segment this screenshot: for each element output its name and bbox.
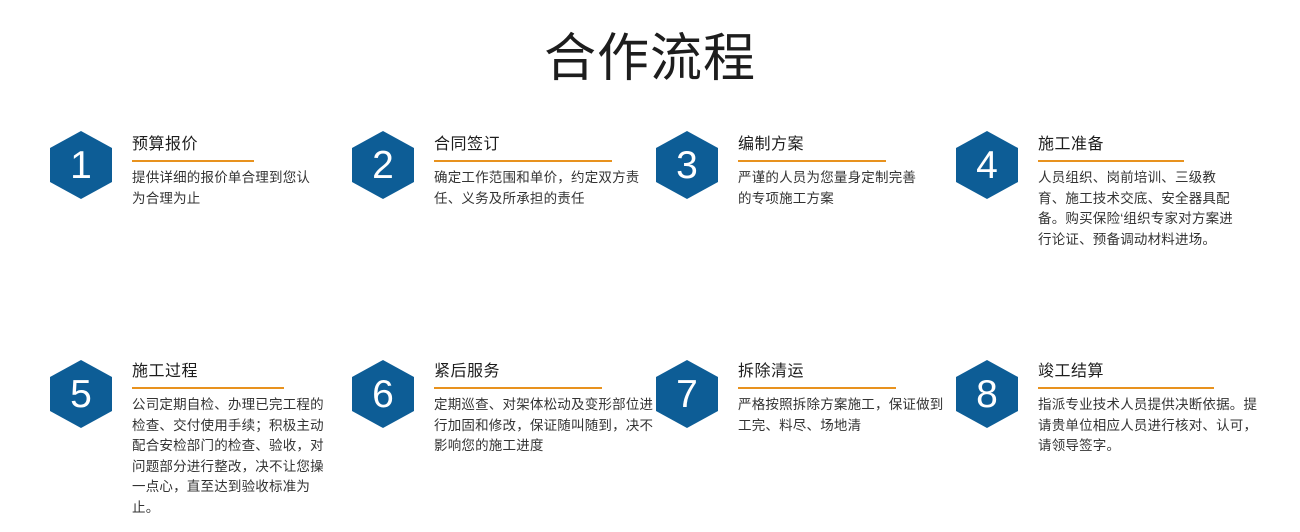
step-number: 4: [976, 146, 998, 185]
process-steps-grid: 1 预算报价 提供详细的报价单合理到您认为合理为止 2 合同签订 确定工作范围和…: [0, 131, 1300, 518]
step-number: 8: [976, 375, 998, 414]
process-step-6: 6 紧后服务 定期巡查、对架体松动及变形部位进行加固和修改，保证随叫随到，决不影…: [352, 309, 656, 518]
hexagon-icon: 6: [352, 360, 414, 428]
step-number: 2: [372, 146, 394, 185]
step-content: 编制方案 严谨的人员为您量身定制完善的专项施工方案: [738, 131, 956, 209]
step-badge-8: 8: [956, 358, 1020, 428]
step-content: 施工过程 公司定期自检、办理已完工程的检查、交付使用手续；积极主动配合安检部门的…: [132, 358, 352, 518]
hexagon-icon: 8: [956, 360, 1018, 428]
hexagon-icon: 1: [50, 131, 112, 199]
step-title: 拆除清运: [738, 362, 956, 382]
step-title: 编制方案: [738, 135, 956, 155]
title-underline-rule: [1038, 160, 1184, 162]
process-step-1: 1 预算报价 提供详细的报价单合理到您认为合理为止: [50, 131, 352, 309]
step-description: 提供详细的报价单合理到您认为合理为止: [132, 168, 318, 209]
process-step-5: 5 施工过程 公司定期自检、办理已完工程的检查、交付使用手续；积极主动配合安检部…: [50, 309, 352, 518]
step-number: 6: [372, 375, 394, 414]
hexagon-icon: 4: [956, 131, 1018, 199]
step-description: 公司定期自检、办理已完工程的检查、交付使用手续；积极主动配合安检部门的检查、验收…: [132, 395, 328, 518]
step-title: 施工过程: [132, 362, 352, 382]
title-underline-rule: [738, 160, 886, 162]
step-badge-7: 7: [656, 358, 720, 428]
step-badge-2: 2: [352, 131, 416, 199]
title-underline-rule: [132, 387, 284, 389]
hexagon-icon: 2: [352, 131, 414, 199]
title-underline-rule: [434, 160, 612, 162]
step-number: 7: [676, 375, 698, 414]
step-title: 合同签订: [434, 135, 656, 155]
step-badge-1: 1: [50, 131, 114, 199]
step-description: 定期巡查、对架体松动及变形部位进行加固和修改，保证随叫随到，决不影响您的施工进度: [434, 395, 656, 457]
step-number: 3: [676, 146, 698, 185]
title-underline-rule: [1038, 387, 1214, 389]
step-number: 5: [70, 375, 92, 414]
step-content: 竣工结算 指派专业技术人员提供决断依据。提请贵单位相应人员进行核对、认可，请领导…: [1038, 358, 1286, 457]
step-number: 1: [70, 146, 92, 185]
page-title: 合作流程: [0, 0, 1300, 85]
process-step-2: 2 合同签订 确定工作范围和单价，约定双方责任、义务及所承担的责任: [352, 131, 656, 309]
process-step-7: 7 拆除清运 严格按照拆除方案施工，保证做到工完、料尽、场地清: [656, 309, 956, 518]
hexagon-icon: 3: [656, 131, 718, 199]
step-description: 严谨的人员为您量身定制完善的专项施工方案: [738, 168, 924, 209]
step-title: 紧后服务: [434, 362, 656, 382]
step-badge-4: 4: [956, 131, 1020, 199]
process-step-8: 8 竣工结算 指派专业技术人员提供决断依据。提请贵单位相应人员进行核对、认可，请…: [956, 309, 1286, 518]
step-content: 预算报价 提供详细的报价单合理到您认为合理为止: [132, 131, 352, 209]
step-content: 拆除清运 严格按照拆除方案施工，保证做到工完、料尽、场地清: [738, 358, 956, 436]
step-description: 确定工作范围和单价，约定双方责任、义务及所承担的责任: [434, 168, 640, 209]
step-title: 竣工结算: [1038, 362, 1286, 382]
step-description: 严格按照拆除方案施工，保证做到工完、料尽、场地清: [738, 395, 956, 436]
hexagon-icon: 5: [50, 360, 112, 428]
step-badge-3: 3: [656, 131, 720, 199]
step-title: 预算报价: [132, 135, 352, 155]
title-underline-rule: [434, 387, 602, 389]
hexagon-icon: 7: [656, 360, 718, 428]
step-description: 人员组织、岗前培训、三级教育、施工技术交底、安全器具配备。购买保险‘组织专家对方…: [1038, 168, 1234, 250]
step-content: 施工准备 人员组织、岗前培训、三级教育、施工技术交底、安全器具配备。购买保险‘组…: [1038, 131, 1286, 250]
process-step-4: 4 施工准备 人员组织、岗前培训、三级教育、施工技术交底、安全器具配备。购买保险…: [956, 131, 1286, 309]
step-badge-6: 6: [352, 358, 416, 428]
process-step-3: 3 编制方案 严谨的人员为您量身定制完善的专项施工方案: [656, 131, 956, 309]
step-badge-5: 5: [50, 358, 114, 428]
step-description: 指派专业技术人员提供决断依据。提请贵单位相应人员进行核对、认可，请领导签字。: [1038, 395, 1260, 457]
step-content: 合同签订 确定工作范围和单价，约定双方责任、义务及所承担的责任: [434, 131, 656, 209]
step-content: 紧后服务 定期巡查、对架体松动及变形部位进行加固和修改，保证随叫随到，决不影响您…: [434, 358, 656, 457]
title-underline-rule: [132, 160, 254, 162]
title-underline-rule: [738, 387, 896, 389]
step-title: 施工准备: [1038, 135, 1286, 155]
